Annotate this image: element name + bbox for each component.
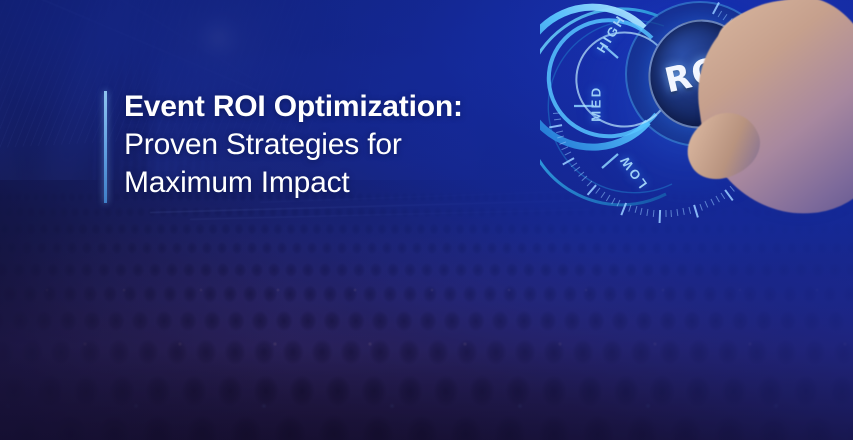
title-block: Event ROI Optimization: Proven Strategie… <box>104 88 463 203</box>
title-line-3: Maximum Impact <box>124 164 463 202</box>
violet-bottom-tint <box>0 230 853 440</box>
dial-label-med: MED <box>589 85 604 121</box>
title-line-2: Proven Strategies for <box>124 126 463 164</box>
page-title: Event ROI Optimization: Proven Strategie… <box>124 88 463 202</box>
hand-graphic <box>640 0 853 240</box>
event-banner: HIGH MED LOW ROI Event ROI Optimization:… <box>0 0 853 440</box>
palm <box>686 0 853 227</box>
title-line-1: Event ROI Optimization: <box>124 88 463 126</box>
accent-bar <box>104 91 107 203</box>
